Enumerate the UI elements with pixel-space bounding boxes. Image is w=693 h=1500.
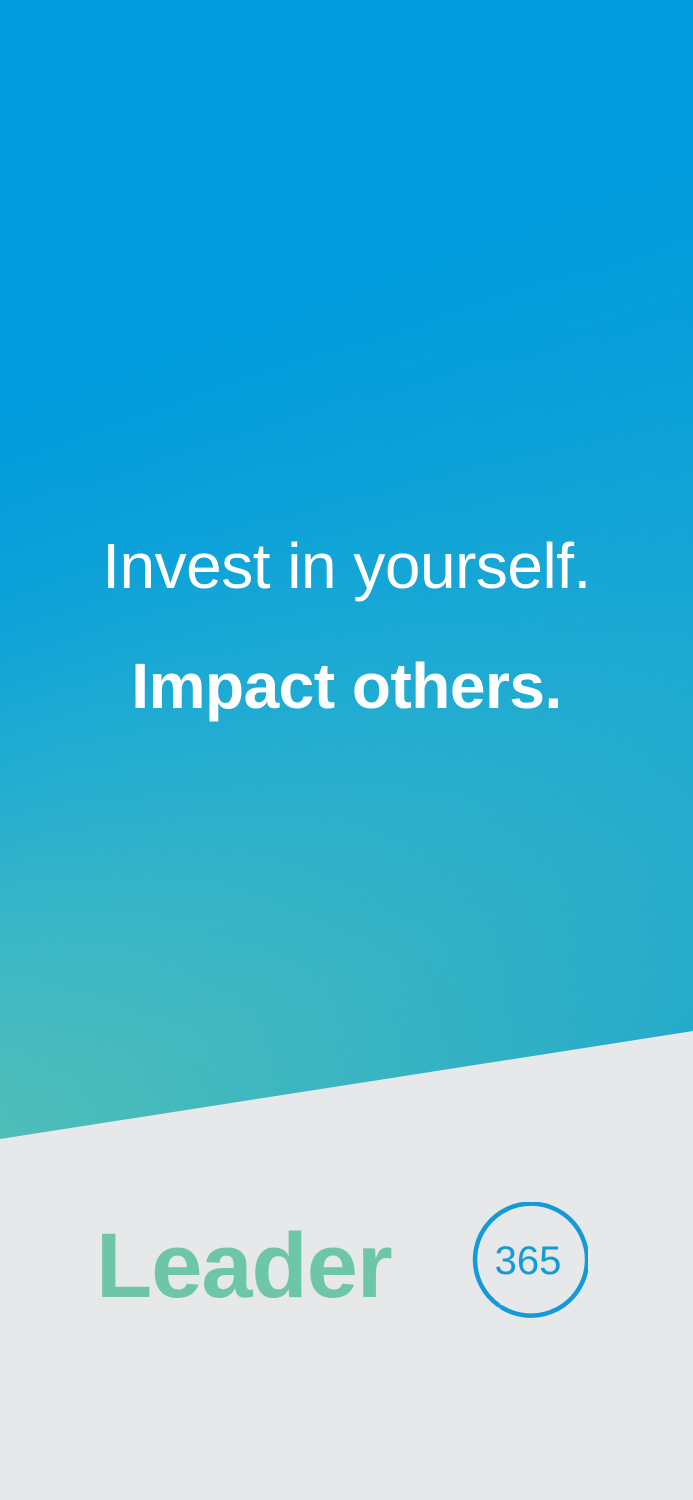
badge-number: 365 bbox=[495, 1239, 562, 1283]
logo-365-badge: 365 bbox=[468, 1202, 588, 1322]
tagline-line-1: Invest in yourself. bbox=[0, 534, 693, 598]
circle-365-icon: 365 bbox=[468, 1202, 588, 1322]
splash-screen: Invest in yourself. Impact others. Leade… bbox=[0, 0, 693, 1500]
logo-wordmark: Leader bbox=[96, 1196, 392, 1336]
tagline-block: Invest in yourself. Impact others. bbox=[0, 534, 693, 718]
tagline-line-2: Impact others. bbox=[0, 654, 693, 718]
leader365-logo: Leader 365 bbox=[96, 1196, 596, 1336]
